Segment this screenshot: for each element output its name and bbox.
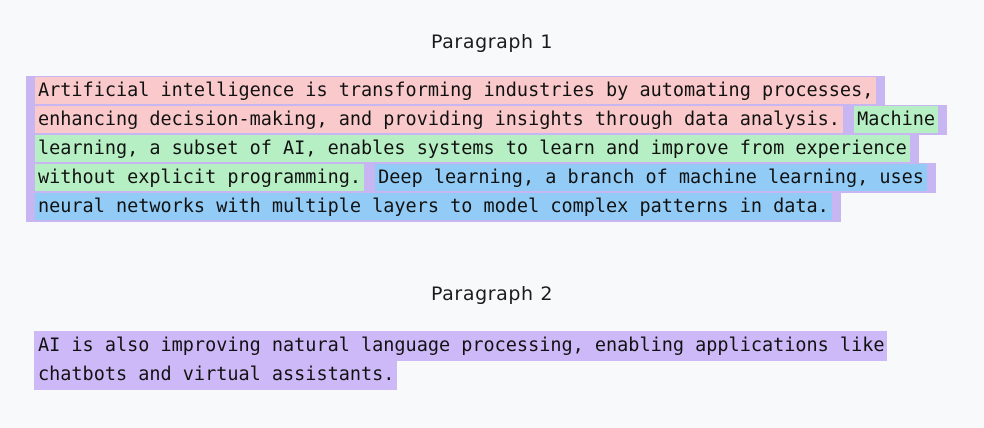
highlight-gap: [364, 167, 375, 188]
paragraph-1-highlight-container: Artificial intelligence is transforming …: [26, 76, 947, 222]
paragraph-2-title: Paragraph 2: [0, 285, 984, 304]
highlight-sentence-pink[interactable]: Artificial intelligence is transforming …: [35, 77, 876, 133]
highlight-gap: [843, 109, 854, 130]
paragraph-1-title: Paragraph 1: [0, 33, 984, 52]
page-root: Paragraph 1 Artificial intelligence is t…: [0, 0, 984, 428]
paragraph-2-body: AI is also improving natural language pr…: [34, 331, 934, 389]
highlight-sentence-lavender[interactable]: AI is also improving natural language pr…: [34, 331, 887, 390]
paragraph-1-body: Artificial intelligence is transforming …: [26, 76, 956, 221]
